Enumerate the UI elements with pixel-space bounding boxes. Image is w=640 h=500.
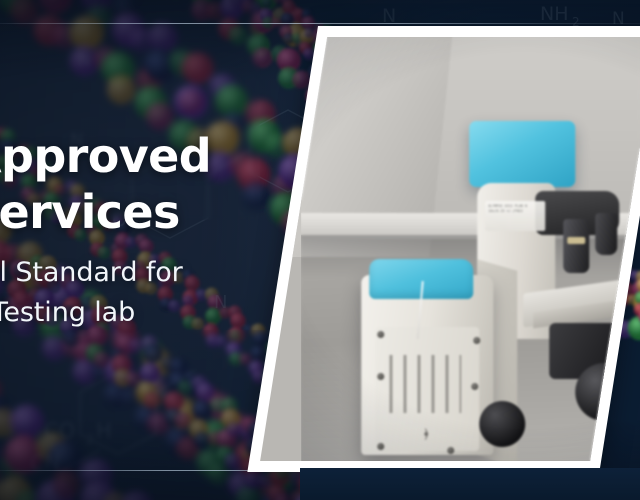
bottom-navy-band [300,468,640,500]
promo-banner: N NH2 N N O CO2H CN NH2 O N N Approved S… [0,0,640,500]
hairline-top [0,23,640,24]
headline-line-1: Approved [0,128,386,184]
headline-line-2: Services [0,184,386,240]
subheadline-line-2: d Testing lab [0,294,386,332]
subheadline-line-1: nal Standard for [0,254,386,292]
headline-block: Approved Services nal Standard for d Tes… [0,128,386,332]
